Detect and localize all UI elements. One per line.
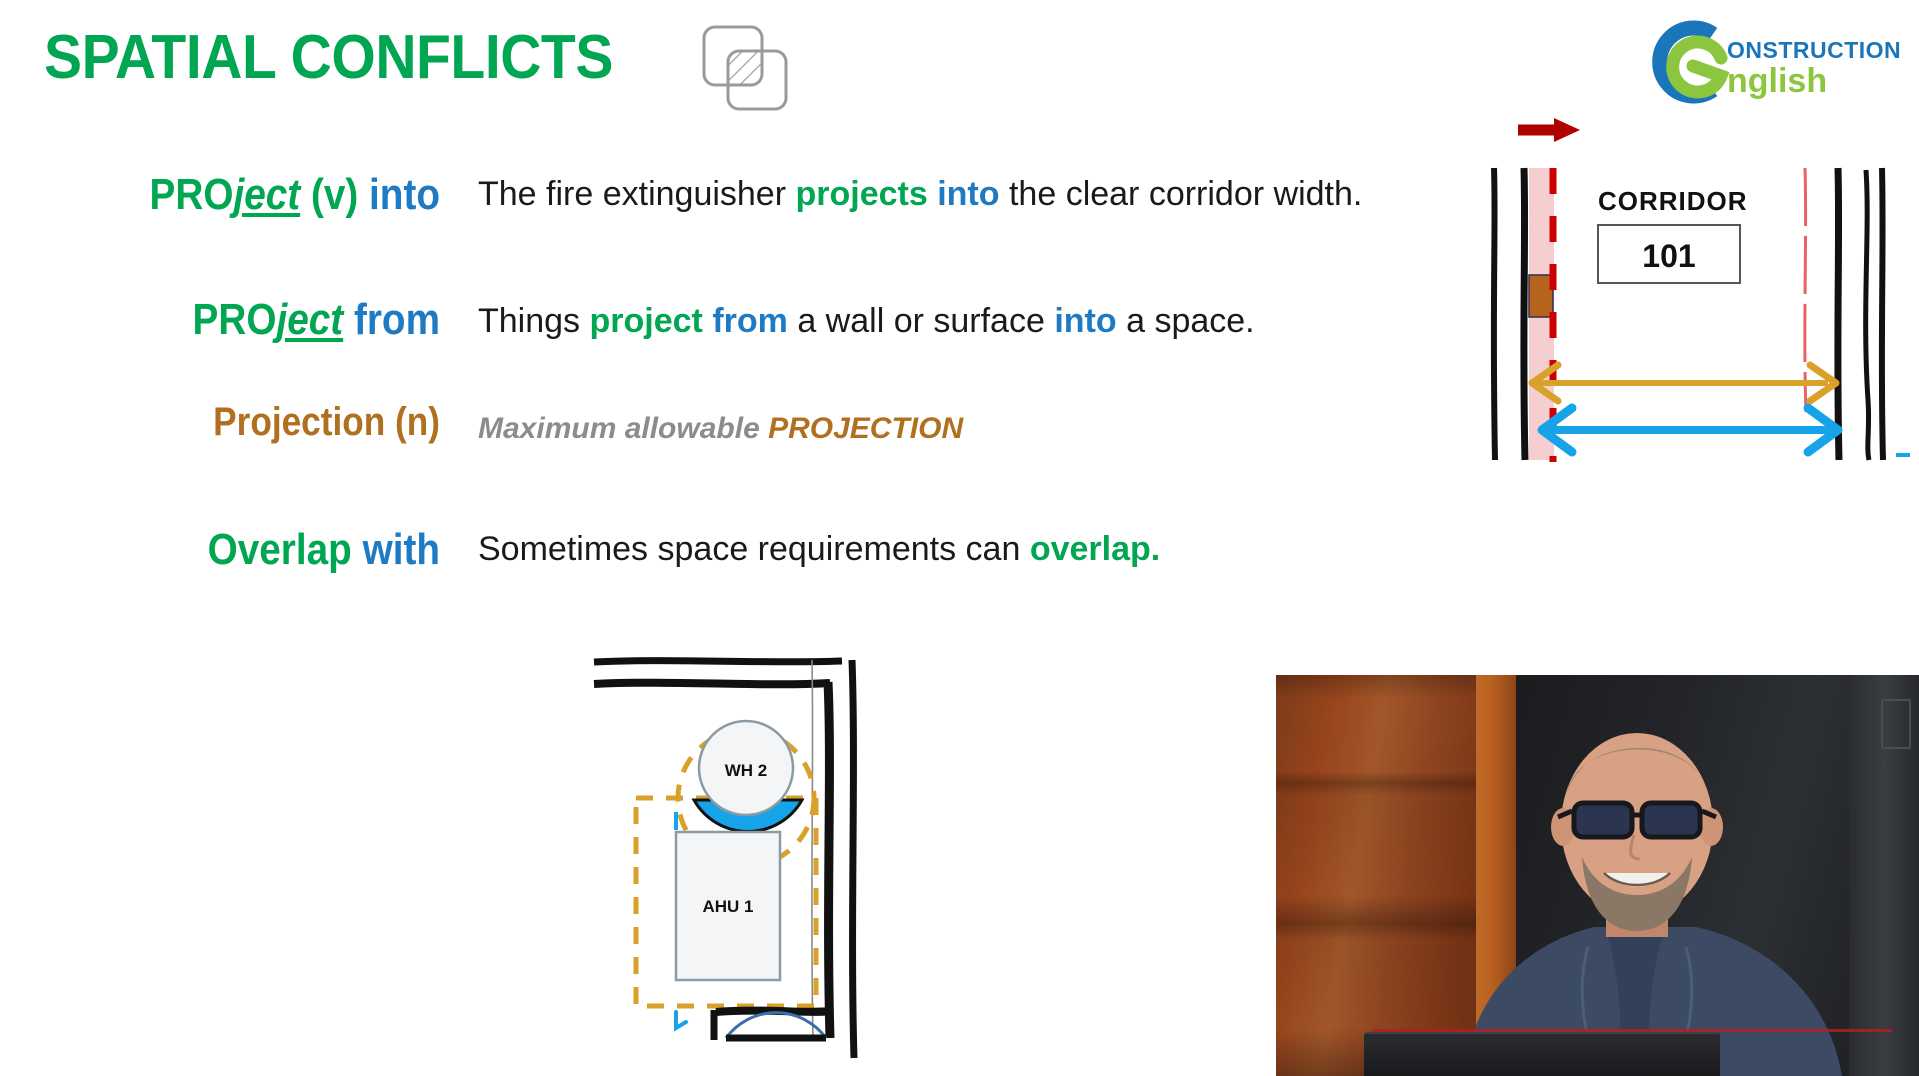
highlight-preposition: into xyxy=(937,175,999,213)
right-outer-wall-b xyxy=(1882,168,1883,460)
sentence-part: Things xyxy=(478,302,590,340)
presenter-figure xyxy=(1276,675,1919,1076)
corridor-plan-diagram: CORRIDOR 101 xyxy=(1480,100,1919,470)
highlight-noun: PROJECTION xyxy=(768,412,963,445)
construction-english-logo: ONSTRUCTION nglish xyxy=(1635,14,1907,110)
nominal-corridor-width-dimension xyxy=(1532,365,1836,401)
term-pos xyxy=(352,525,363,574)
term-prefix: PRO xyxy=(193,295,277,344)
term-preposition: into xyxy=(369,170,440,219)
top-inner-wall xyxy=(594,683,830,685)
red-underline-accent xyxy=(1372,1029,1892,1032)
term-project-into: PROject (v) into xyxy=(53,170,440,220)
right-outer-wall xyxy=(852,660,854,1058)
example-sentence-1: The fire extinguisher projects into the … xyxy=(478,176,1362,213)
room-name-label: CORRIDOR xyxy=(1598,186,1748,216)
sentence-space xyxy=(703,302,712,340)
sentence-part: the clear corridor width. xyxy=(1000,175,1363,213)
wh2-label: WH 2 xyxy=(725,761,768,780)
term-prefix: Overlap xyxy=(208,525,352,574)
room-number-label: 101 xyxy=(1642,238,1695,274)
laptop-screen-back xyxy=(1364,1032,1720,1076)
page-title: SPATIAL CONFLICTS xyxy=(44,22,613,93)
reference-gridline xyxy=(812,660,813,1040)
projection-direction-arrow xyxy=(1518,118,1580,142)
left-outer-wall xyxy=(1494,168,1495,460)
term-preposition: from xyxy=(354,295,440,344)
term-pos xyxy=(343,295,354,344)
example-sentence-2: Things project from a wall or surface in… xyxy=(478,303,1255,340)
vocab-row-project-into: PROject (v) into The fire extinguisher p… xyxy=(0,170,1460,240)
fire-extinguisher-cabinet xyxy=(1529,275,1553,317)
sentence-part: a space. xyxy=(1117,302,1255,340)
term-stem: ject xyxy=(276,295,343,344)
presenter-webcam-overlay[interactable] xyxy=(1276,675,1919,1076)
door-swing-arc xyxy=(726,1013,826,1038)
term-prefix: PRO xyxy=(150,170,234,219)
svg-text:ONSTRUCTION: ONSTRUCTION xyxy=(1727,37,1901,63)
cyan-leader-tick xyxy=(676,1012,686,1028)
sentence-space xyxy=(928,175,937,213)
vocab-row-overlap-with: Overlap with Sometimes space requirement… xyxy=(0,525,1460,595)
sentence-part: Sometimes space requirements can xyxy=(478,530,1030,568)
left-inner-wall xyxy=(1524,168,1525,460)
term-overlap-with: Overlap with xyxy=(53,525,440,575)
term-project-from: PROject from xyxy=(53,295,440,345)
ahu1-label: AHU 1 xyxy=(702,897,753,916)
vocab-row-projection-noun: Projection (n) Maximum allowable PROJECT… xyxy=(0,400,1460,470)
highlight-preposition: from xyxy=(712,302,788,340)
secondary-limit-line xyxy=(1805,168,1806,412)
right-inner-wall xyxy=(1838,168,1839,460)
term-pos: (v) xyxy=(300,170,369,219)
right-outer-wall-a xyxy=(1866,170,1869,460)
clear-corridor-width-dimension xyxy=(1542,408,1838,452)
example-phrase-3: Maximum allowable PROJECTION xyxy=(478,412,963,445)
highlight-preposition-2: into xyxy=(1054,302,1116,340)
highlight-verb: project xyxy=(590,302,703,340)
example-sentence-4: Sometimes space requirements can overlap… xyxy=(478,531,1160,568)
sentence-part: a wall or surface xyxy=(788,302,1054,340)
top-outer-wall xyxy=(594,661,842,662)
sentence-part: The fire extinguisher xyxy=(478,175,796,213)
term-projection: Projection (n) xyxy=(53,400,440,445)
phrase-part: Maximum allowable xyxy=(478,412,768,445)
highlight-verb: projects xyxy=(796,175,928,213)
vocab-row-project-from: PROject from Things project from a wall … xyxy=(0,295,1460,365)
right-inner-wall xyxy=(828,682,830,1038)
term-preposition: with xyxy=(363,525,440,574)
term-stem: ject xyxy=(233,170,300,219)
equipment-clearance-overlap-diagram: WH 2 AHU 1 xyxy=(580,640,900,1060)
overlapping-squares-icon xyxy=(697,18,801,118)
svg-text:nglish: nglish xyxy=(1727,62,1827,100)
highlight-verb: overlap. xyxy=(1030,530,1160,568)
